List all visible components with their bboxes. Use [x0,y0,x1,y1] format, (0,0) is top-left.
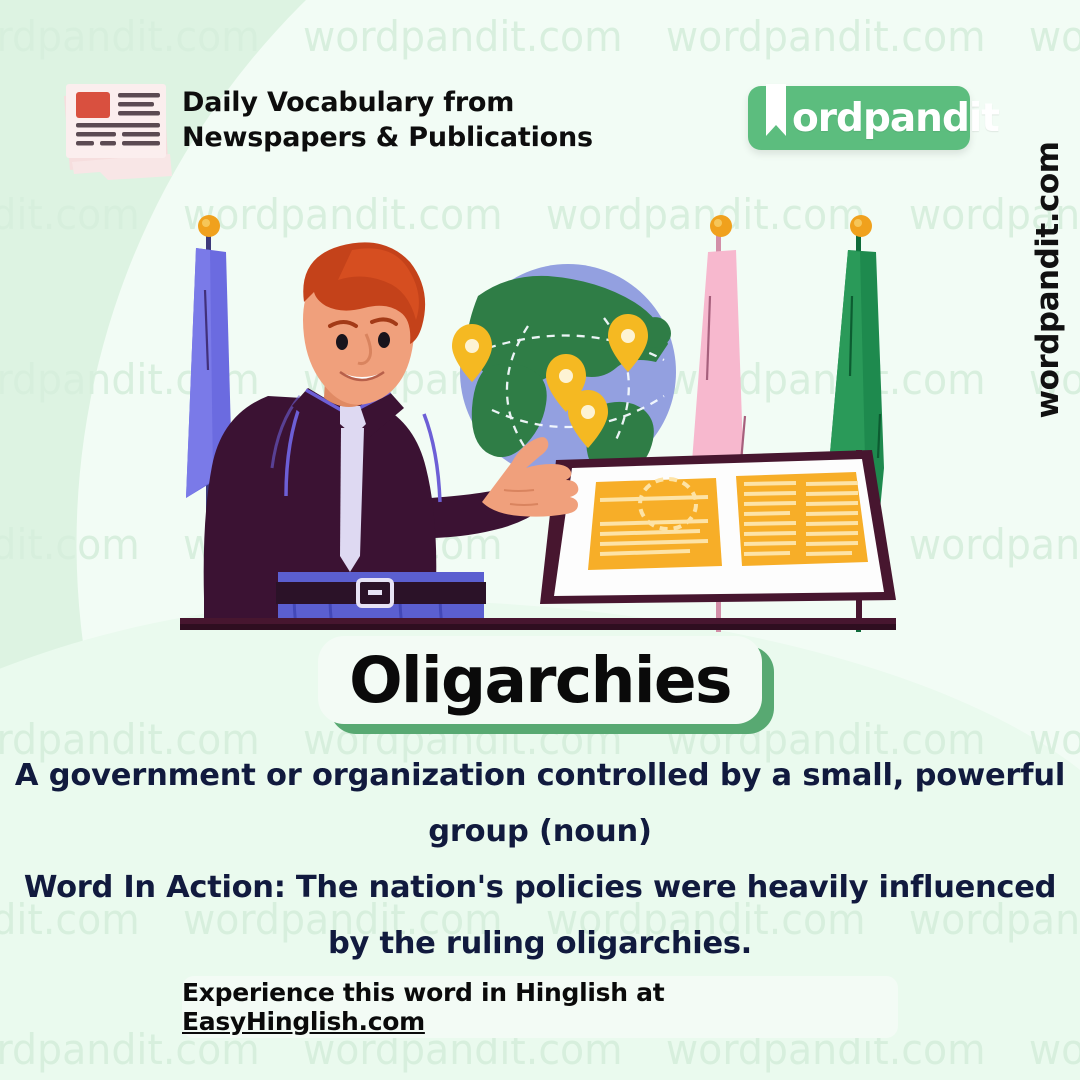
header-title-line2: Newspapers & Publications [182,121,662,156]
cta-link[interactable]: EasyHinglish.com [182,1007,425,1036]
cta-text: Experience this word in Hinglish at Easy… [182,978,898,1036]
vocabulary-card: wordpandit.comwordpandit.comwordpandit.c… [0,0,1080,1080]
word-in-action: Word In Action: The nation's policies we… [10,860,1070,973]
wordpandit-logo[interactable]: ordpandit [748,86,970,150]
illustration-man-globe-flags [0,200,1080,660]
logo-text: ordpandit [792,96,999,141]
cta-prefix: Experience this word in Hinglish at [182,978,664,1007]
newspaper-icon [52,76,180,184]
cta-banner[interactable]: Experience this word in Hinglish at Easy… [182,976,898,1038]
header-title: Daily Vocabulary from Newspapers & Publi… [182,86,662,155]
header-title-line1: Daily Vocabulary from [182,86,662,121]
word-definition: A government or organization controlled … [10,748,1070,861]
podium-screen [540,450,896,620]
globe [452,264,676,480]
header: Daily Vocabulary from Newspapers & Publi… [0,66,1080,176]
word-title: Oligarchies [349,649,731,712]
word-card: Oligarchies [318,636,762,724]
